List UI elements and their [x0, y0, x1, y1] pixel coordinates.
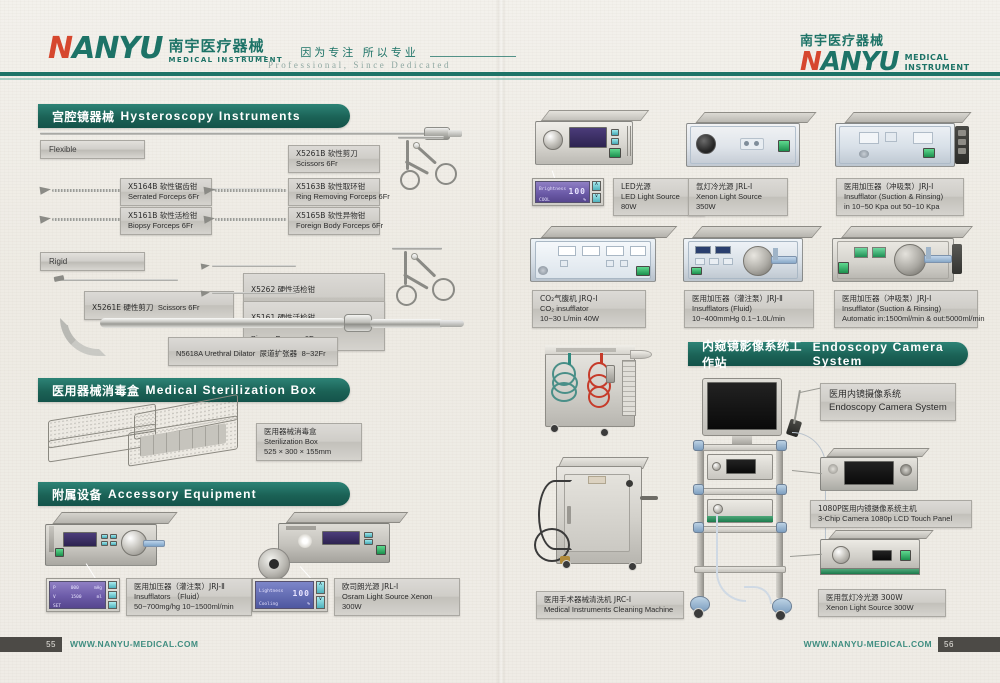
- scope-shaft: [793, 390, 801, 424]
- label-co2-cn: CO₂气腹机 JRQ-Ⅰ: [540, 294, 638, 304]
- label-ins-fluid2-cn: 医用加压器（灌注泵）JRJ-Ⅱ: [692, 294, 806, 304]
- tagline-rule-left: [240, 56, 266, 57]
- label-xenon-light-source: 氙灯冷光源 JRL-Ⅰ Xenon Light Source 350W: [688, 178, 788, 216]
- label-ring-removing-forceps-en: Ring Removing Forceps 6Fr: [296, 192, 372, 202]
- instrument-shaft-flex-d: [52, 218, 130, 221]
- section-header-camera-system: 内窥镜影像系统工作站 Endoscopy Camera System: [688, 342, 968, 366]
- label-insufflator-fluid-spec: 50~700mg/hg 10~1500ml/min: [134, 602, 244, 612]
- section-header-hysteroscopy: 宫腔镜器械 Hysteroscopy Instruments: [38, 104, 350, 128]
- label-camera-system-en: Endoscopy Camera System: [829, 402, 947, 415]
- label-urethral-dilator-spec: 8~32Fr: [302, 349, 326, 358]
- lcd-buttons-insufflator[interactable]: [108, 581, 117, 609]
- label-serrated-forceps-en: Serrated Forceps 6Fr: [128, 192, 204, 202]
- device-insufflator-fluid-2: [683, 226, 823, 286]
- header-rule-thin: [0, 78, 1000, 80]
- page-number-right: 56: [938, 637, 1000, 652]
- section-sterilization-cn: 医用器械消毒盒: [52, 382, 140, 399]
- label-co2-en: CO₂ insufflator: [540, 304, 638, 314]
- lcd-button-up[interactable]: [108, 581, 117, 589]
- label-xenon300-en: Xenon Light Source 300W: [826, 603, 938, 613]
- instrument-shaft-rigid-c: [212, 292, 296, 294]
- section-hysteroscopy-cn: 宫腔镜器械: [52, 108, 115, 125]
- label-ins-suction1-spec: in 10~50 Kpa out 50~10 Kpa: [844, 202, 956, 212]
- device-insufflator-suction-2: [832, 226, 974, 286]
- label-osram-spec: 300W: [342, 602, 452, 612]
- label-urethral-dilator-en: N5618A Urethral Dilator: [176, 349, 255, 358]
- device-ccu-1080p: [820, 448, 936, 496]
- device-insufflator-fluid: [45, 512, 175, 574]
- lcd-ins-l3-label: SET: [53, 604, 61, 609]
- brand-logo-right: 南宇医疗器械 NANYU MEDICAL INSTRUMENT: [800, 30, 970, 75]
- lcd-led-button-down[interactable]: ∨: [592, 193, 601, 203]
- lcd-osram-l1-value: 100: [293, 589, 310, 598]
- label-xenon-cn: 氙灯冷光源 JRL-Ⅰ: [696, 182, 780, 192]
- device-co2-insufflator: [530, 226, 675, 286]
- instrument-jaw-rigid-b: [201, 262, 211, 270]
- device-osram-light-source: [278, 512, 404, 572]
- instrument-shaft-long: [40, 132, 430, 135]
- page-header: NANYU 南宇医疗器械 MEDICAL INSTRUMENT 因为专注 所以专…: [0, 0, 1000, 78]
- label-sterilization-box-cn: 医用器械消毒盒: [264, 427, 354, 437]
- label-led-spec: 80W: [621, 202, 697, 212]
- lcd-ins-l2-value: 1500: [71, 595, 82, 600]
- lcd-osram-l1-label: Lightness: [259, 589, 283, 598]
- label-insufflator-fluid: 医用加压器（灌注泵）JRJ-Ⅱ Insufflators （Fluid） 50~…: [126, 578, 252, 616]
- label-serrated-forceps-cn: X5164B 软性锯齿钳: [128, 182, 204, 192]
- label-led-en: LED Light Source: [621, 192, 697, 202]
- instrument-jaw-flex-b: [39, 185, 51, 194]
- instrument-jaw-rigid-c: [201, 289, 211, 297]
- lcd-led-light-source: Brightness100 COOL% ∧∨: [532, 178, 604, 206]
- label-ins-fluid2-en: Insufflators (Fluid): [692, 304, 806, 314]
- section-hysteroscopy-en: Hysteroscopy Instruments: [121, 109, 301, 123]
- label-rigid-scissors-en: Scissors 6Fr: [158, 303, 200, 312]
- header-rule: [0, 72, 1000, 76]
- cart-monitor-screen: [707, 382, 777, 430]
- label-osram-light-source: 欧司朗光源 JRL-Ⅰ Osram Light Source Xenon 300…: [334, 578, 460, 616]
- leader-line-camera-system: [800, 387, 822, 393]
- page-number-left: 55: [0, 637, 62, 652]
- label-xenon-en: Xenon Light Source: [696, 192, 780, 202]
- label-xenon-spec: 350W: [696, 202, 780, 212]
- tagline-en: Professional, Since Dedicated: [268, 60, 451, 70]
- lcd-ins-l2-label: V: [53, 595, 56, 600]
- label-foreign-body-cn: X5165B 软性异物钳: [296, 211, 372, 221]
- catalog-page-spread: NANYU 南宇医疗器械 MEDICAL INSTRUMENT 因为专注 所以专…: [0, 0, 1000, 683]
- lcd-screen-led: Brightness100 COOL%: [535, 181, 590, 203]
- label-camera-system: 医用内镜摄像系统 Endoscopy Camera System: [820, 383, 956, 421]
- label-flexible-scissors-cn: X5261B 软性剪刀: [296, 149, 372, 159]
- label-ins-suction1-cn: 医用加压器（冲吸泵）JRJ-Ⅰ: [844, 182, 956, 192]
- label-osram-en: Osram Light Source Xenon: [342, 592, 452, 602]
- lcd-osram-l2-label: Cooling: [259, 602, 278, 607]
- brand-tagline: 因为专注 所以专业 Professional, Since Dedicated: [268, 44, 451, 70]
- section-camera-cn: 内窥镜影像系统工作站: [702, 337, 807, 371]
- cart-monitor-stand: [732, 436, 752, 444]
- label-rigid-scissors-cn: X5261E 硬性剪刀: [92, 303, 153, 312]
- label-xenon-300w: 医用氙灯冷光源 300W Xenon Light Source 300W: [818, 589, 946, 617]
- section-header-sterilization: 医用器械消毒盒 Medical Sterilization Box: [38, 378, 350, 402]
- lcd-buttons-led[interactable]: ∧∨: [592, 181, 601, 203]
- brand-wordmark: NANYU: [48, 34, 163, 64]
- section-header-accessory: 附属设备 Accessory Equipment: [38, 482, 350, 506]
- label-co2-insufflator: CO₂气腹机 JRQ-Ⅰ CO₂ insufflator 10~30 L/min…: [532, 290, 646, 328]
- instrument-shaft-rigid-a: [58, 279, 178, 281]
- label-sterilization-box-spec: 525 × 300 × 155mm: [264, 447, 354, 457]
- section-accessory-en: Accessory Equipment: [108, 487, 257, 501]
- lcd-osram-l2-value: %: [307, 602, 310, 607]
- label-foreign-body-forceps: X5165B 软性异物钳 Foreign Body Forceps 6Fr: [288, 207, 380, 235]
- lcd-button-set[interactable]: [108, 601, 117, 609]
- lcd-button-down[interactable]: [108, 591, 117, 599]
- lcd-osram: Lightness100 Cooling% ∧∨: [252, 578, 328, 612]
- label-xenon300-cn: 医用氙灯冷光源 300W: [826, 593, 938, 603]
- label-ins-suction2-spec: Automatic in:1500ml/min & out:5000ml/min: [842, 314, 970, 324]
- brand-logo-left: NANYU 南宇医疗器械 MEDICAL INSTRUMENT: [48, 34, 283, 64]
- footer-url-right[interactable]: WWW.NANYU-MEDICAL.COM: [780, 637, 932, 652]
- device-insufflator-suction-1: [835, 112, 975, 172]
- label-ccu-en: 3-Chip Camera 1080p LCD Touch Panel: [818, 514, 964, 524]
- label-ins-suction1-en: Insufflator (Suction & Rinsing): [844, 192, 956, 202]
- brand-sub-line1: MEDICAL: [905, 53, 970, 63]
- footer-url-left[interactable]: WWW.NANYU-MEDICAL.COM: [70, 637, 198, 652]
- label-led-cn: LED光源: [621, 182, 697, 192]
- lcd-buttons-osram[interactable]: ∧∨: [316, 581, 325, 609]
- instrument-jaw-flex-c: [203, 185, 215, 194]
- lcd-led-button-up[interactable]: ∧: [592, 181, 601, 191]
- label-ccu-1080p: 1080P医用内镜摄像系统主机 3-Chip Camera 1080p LCD …: [810, 500, 972, 528]
- device-led-light-source: [535, 110, 645, 172]
- lcd-led-l1-label: Brightness: [539, 187, 566, 196]
- label-ring-removing-forceps: X5163B 软性取环钳 Ring Removing Forceps 6Fr: [288, 178, 380, 206]
- label-serrated-forceps: X5164B 软性锯齿钳 Serrated Forceps 6Fr: [120, 178, 212, 206]
- label-ins-fluid2-spec: 10~400mmHg 0.1~1.0L/min: [692, 314, 806, 324]
- lcd-led-l2-value: %: [583, 198, 586, 203]
- device-xenon-300w: [820, 530, 940, 582]
- lcd-osram-button-up[interactable]: ∧: [316, 581, 325, 594]
- label-sterilization-box-en: Sterilization Box: [264, 437, 354, 447]
- lcd-screen-osram: Lightness100 Cooling%: [255, 581, 314, 609]
- lcd-osram-button-down[interactable]: ∨: [316, 596, 325, 609]
- instrument-connector-top: [448, 130, 462, 137]
- label-flexible-biopsy-en: Biopsy Forceps 6Fr: [128, 221, 204, 231]
- lcd-led-l1-value: 100: [569, 187, 586, 196]
- section-camera-en: Endoscopy Camera System: [813, 340, 968, 368]
- brand-wordmark-initial: N: [48, 31, 72, 66]
- label-cleaning-machine-en: Medical Instruments Cleaning Machine: [544, 605, 676, 615]
- lcd-insufflator-fluid: P000mHg V1500ml SET: [46, 578, 120, 612]
- cart-cable-light: [716, 514, 746, 602]
- lcd-screen-insufflator: P000mHg V1500ml SET: [49, 581, 106, 609]
- device-xenon-light-source: [686, 112, 816, 172]
- label-sterilization-box: 医用器械消毒盒 Sterilization Box 525 × 300 × 15…: [256, 423, 362, 461]
- label-urethral-dilator-cn: 尿道扩张器: [260, 349, 298, 358]
- label-ccu-cn: 1080P医用内镜摄像系统主机: [818, 504, 964, 514]
- label-co2-spec: 10~30 L/min 40W: [540, 314, 638, 324]
- lcd-ins-l1-label: P: [53, 586, 56, 591]
- brand-name-cn: 南宇医疗器械: [169, 35, 284, 56]
- instrument-shaft-flex-e: [215, 218, 287, 221]
- label-flexible-biopsy-forceps: X5161B 软性活检钳 Biopsy Forceps 6Fr: [120, 207, 212, 235]
- label-flexible-biopsy-cn: X5161B 软性活检钳: [128, 211, 204, 221]
- instrument-shaft-flex-c: [215, 189, 287, 192]
- instrument-shaft-flex-b: [52, 189, 130, 192]
- label-flexible-scissors: X5261B 软性剪刀 Scissors 6Fr: [288, 145, 380, 173]
- section-accessory-cn: 附属设备: [52, 486, 102, 503]
- lcd-led-l2-label: COOL: [539, 198, 550, 203]
- label-osram-cn: 欧司朗光源 JRL-Ⅰ: [342, 582, 452, 592]
- lcd-ins-l1-value: 000: [71, 586, 79, 591]
- label-urethral-dilator: N5618A Urethral Dilator 尿道扩张器 8~32Fr: [168, 337, 338, 366]
- page-gutter: [496, 0, 506, 683]
- group-tag-rigid: Rigid: [40, 252, 145, 271]
- instrument-jaw-flex-d: [39, 214, 51, 223]
- label-insufflator-fluid-en: Insufflators （Fluid）: [134, 592, 244, 602]
- label-camera-system-cn: 医用内镜摄像系统: [829, 390, 947, 402]
- label-insufflator-fluid-2: 医用加压器（灌注泵）JRJ-Ⅱ Insufflators (Fluid) 10~…: [684, 290, 814, 328]
- label-cleaning-machine-cn: 医用手术器械清洗机 JRC-Ⅰ: [544, 595, 676, 605]
- label-ring-removing-forceps-cn: X5163B 软性取环钳: [296, 182, 372, 192]
- label-insufflator-fluid-cn: 医用加压器（灌注泵）JRJ-Ⅱ: [134, 582, 244, 592]
- instrument-shaft-rigid-b: [212, 265, 296, 267]
- light-source-adapter-hole: [269, 559, 279, 569]
- label-insufflator-suction-1: 医用加压器（冲吸泵）JRJ-Ⅰ Insufflator (Suction & R…: [836, 178, 964, 216]
- label-ins-suction2-en: Insufflator (Suction & Rinsing): [842, 304, 970, 314]
- lcd-ins-l1-unit: mHg: [94, 586, 102, 591]
- group-tag-flexible: Flexible: [40, 140, 145, 159]
- tagline-cn: 因为专注 所以专业: [268, 44, 451, 60]
- lcd-ins-l2-unit: ml: [97, 595, 102, 600]
- tagline-rule-right: [430, 56, 516, 57]
- label-ins-suction2-cn: 医用加压器（冲吸泵）JRJ-Ⅰ: [842, 294, 970, 304]
- brand-subtitle: MEDICAL INSTRUMENT: [169, 56, 284, 64]
- label-insufflator-suction-2: 医用加压器（冲吸泵）JRJ-Ⅰ Insufflator (Suction & R…: [834, 290, 978, 328]
- label-foreign-body-en: Foreign Body Forceps 6Fr: [296, 221, 372, 231]
- label-flexible-scissors-en: Scissors 6Fr: [296, 159, 372, 169]
- label-rigid-scissors: X5261E 硬性剪刀 Scissors 6Fr: [84, 291, 234, 320]
- brand-wordmark-rest: ANYU: [72, 31, 162, 66]
- instrument-jaw-flex-e: [203, 214, 215, 223]
- label-cleaning-machine: 医用手术器械清洗机 JRC-Ⅰ Medical Instruments Clea…: [536, 591, 684, 619]
